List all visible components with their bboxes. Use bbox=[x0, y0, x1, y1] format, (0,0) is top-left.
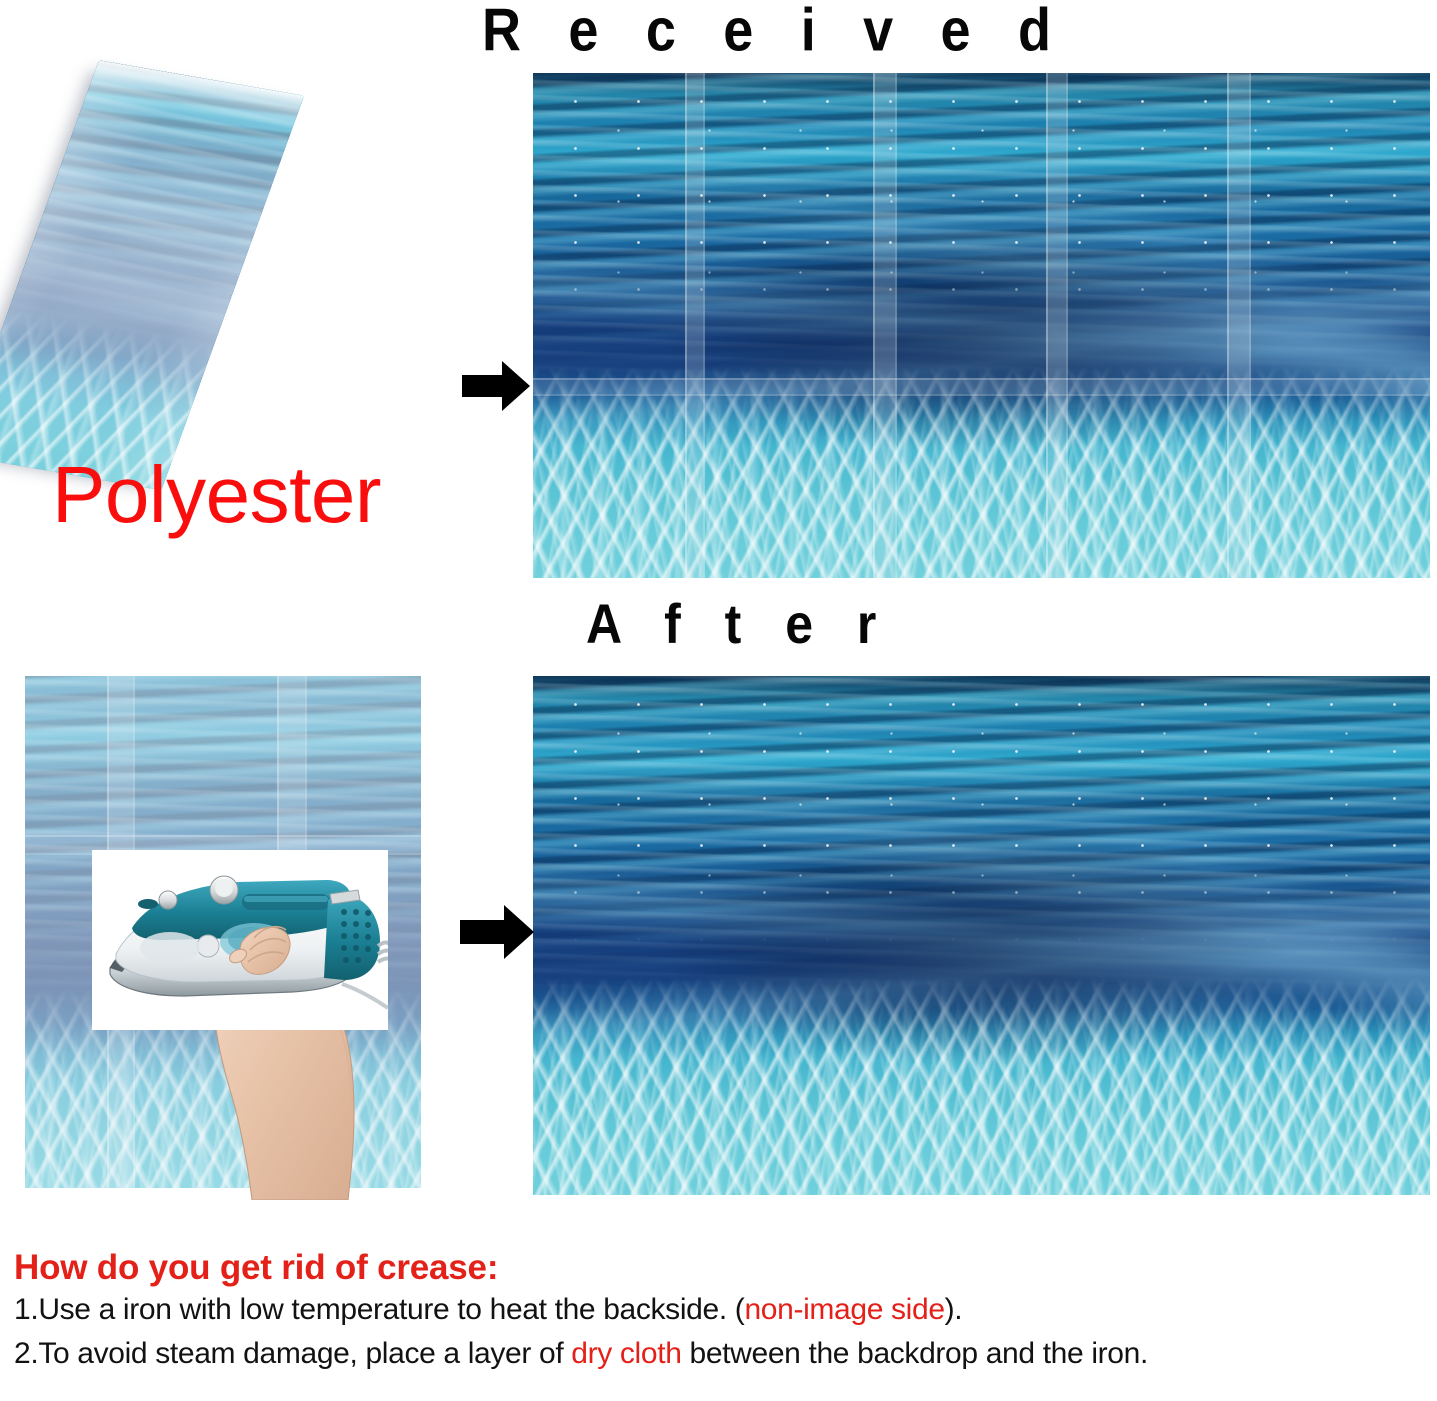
line2-suffix: between the backdrop and the iron. bbox=[682, 1337, 1148, 1370]
arrow-right-icon bbox=[458, 902, 536, 962]
line2-highlight: dry cloth bbox=[571, 1337, 681, 1370]
line1-suffix: ). bbox=[945, 1293, 963, 1326]
sea-floor-detail-layer bbox=[533, 73, 1430, 578]
instructions-title: How do you get rid of crease: bbox=[14, 1248, 1434, 1288]
instruction-line-1: 1.Use a iron with low temperature to hea… bbox=[14, 1288, 1434, 1332]
instruction-line-2: 2.To avoid steam damage, place a layer o… bbox=[14, 1332, 1434, 1376]
received-heading: R e c e i v e d bbox=[482, 0, 1067, 60]
after-backdrop-image bbox=[533, 676, 1430, 1195]
line1-prefix: 1.Use a iron with low temperature to hea… bbox=[14, 1293, 744, 1326]
line1-highlight: non-image side bbox=[744, 1293, 944, 1326]
polyester-label: Polyester bbox=[52, 455, 381, 535]
sea-floor-detail-layer bbox=[533, 676, 1430, 1195]
swatch-sheen bbox=[0, 60, 304, 490]
instructions-block: How do you get rid of crease: 1.Use a ir… bbox=[14, 1248, 1434, 1376]
steam-iron-photo bbox=[92, 850, 388, 1030]
swatch-fabric bbox=[0, 60, 304, 490]
line2-prefix: 2.To avoid steam damage, place a layer o… bbox=[14, 1337, 571, 1370]
after-heading: A f t e r bbox=[586, 596, 891, 652]
polyester-swatch-image bbox=[22, 78, 397, 498]
received-backdrop-image bbox=[533, 73, 1430, 578]
arrow-right-icon bbox=[460, 358, 532, 414]
